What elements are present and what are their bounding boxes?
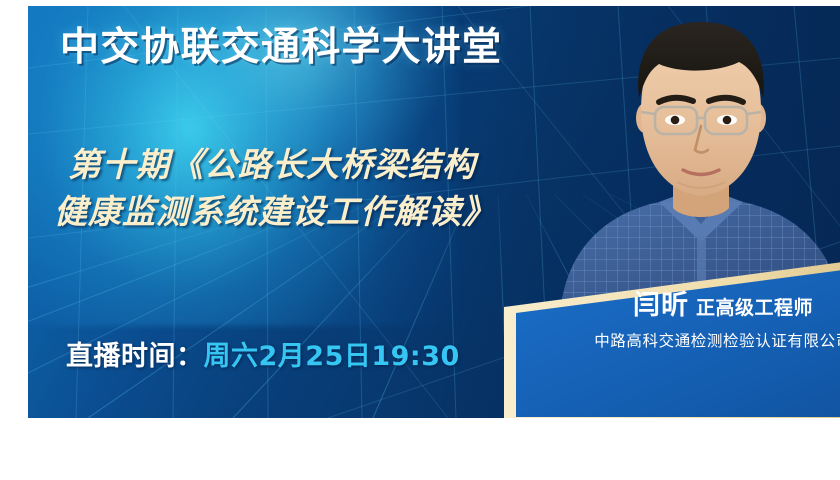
- poster-canvas: 中交协联交通科学大讲堂 第十期《公路长大桥梁结构 健康监测系统建设工作解读》 直…: [0, 0, 840, 480]
- live-schedule: 直播时间：周六2月25日19:30: [66, 334, 460, 373]
- speaker-name: 闫昕: [633, 290, 689, 321]
- speaker-organization: 中路高科交通检测检验认证有限公司: [558, 329, 840, 351]
- schedule-label: 直播时间：: [66, 341, 204, 372]
- session-subtitle: 第十期《公路长大桥梁结构 健康监测系统建设工作解读》: [68, 142, 496, 236]
- page-title: 中交协联交通科学大讲堂: [60, 28, 502, 67]
- speaker-name-line: 闫昕正高级工程师: [558, 292, 840, 319]
- subtitle-line-2: 健康监测系统建设工作解读》: [54, 189, 496, 236]
- schedule-value: 周六2月25日19:30: [204, 341, 460, 372]
- speaker-title: 正高级工程师: [696, 297, 813, 319]
- poster-panel: 中交协联交通科学大讲堂 第十期《公路长大桥梁结构 健康监测系统建设工作解读》 直…: [28, 6, 840, 418]
- subtitle-line-1: 第十期《公路长大桥梁结构: [68, 145, 476, 184]
- speaker-info: 闫昕正高级工程师 中路高科交通检测检验认证有限公司: [558, 292, 840, 351]
